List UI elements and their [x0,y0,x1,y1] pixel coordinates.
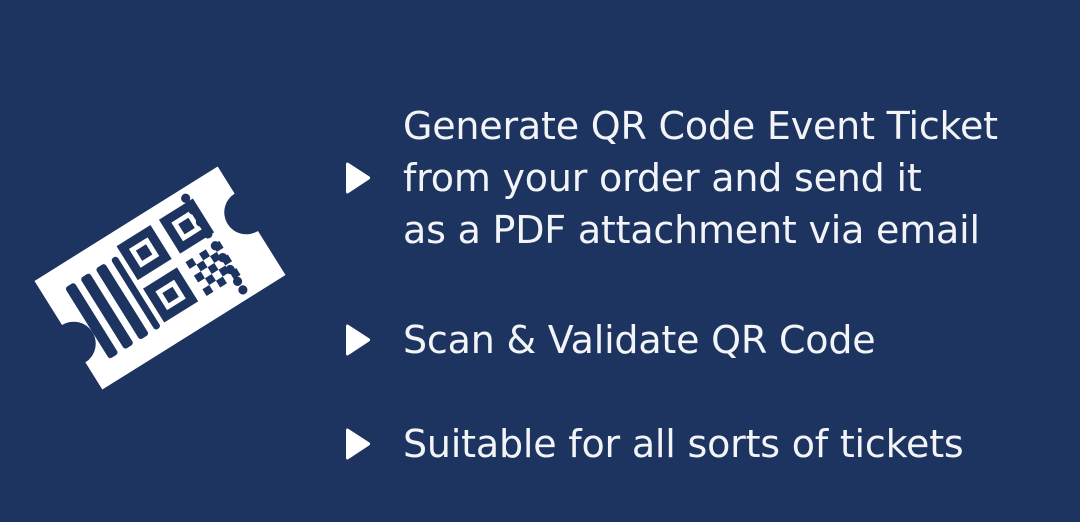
feature-line: as a PDF attachment via email [403,204,998,256]
feature-line: Suitable for all sorts of tickets [403,418,964,470]
feature-item-2: Scan & Validate QR Code [336,314,875,366]
feature-text-1: Generate QR Code Event Ticket from your … [403,100,998,256]
feature-item-1: Generate QR Code Event Ticket from your … [336,100,998,256]
feature-text-3: Suitable for all sorts of tickets [403,418,964,470]
feature-list: Generate QR Code Event Ticket from your … [336,0,1080,522]
feature-text-2: Scan & Validate QR Code [403,314,875,366]
feature-line: Generate QR Code Event Ticket [403,100,998,152]
feature-item-3: Suitable for all sorts of tickets [336,418,964,470]
feature-line: from your order and send it [403,152,998,204]
promo-banner: Generate QR Code Event Ticket from your … [0,0,1080,522]
play-triangle-icon [336,314,370,366]
play-triangle-icon [336,418,370,470]
feature-line: Scan & Validate QR Code [403,314,875,366]
play-triangle-icon [336,152,370,204]
qr-code-event-ticket-icon [0,118,320,438]
